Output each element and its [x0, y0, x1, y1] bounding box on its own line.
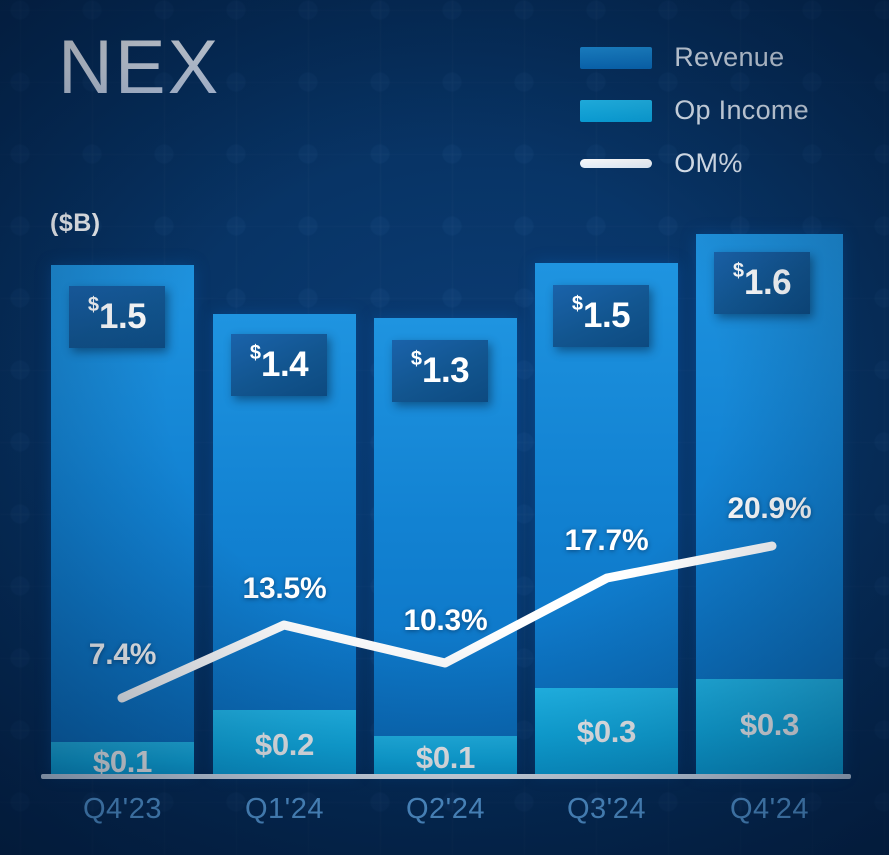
op-income-value-label-q324: $0.3 [535, 714, 678, 750]
legend-label-op-income: Op Income [674, 95, 809, 126]
x-axis-line [41, 774, 851, 779]
legend-item-revenue: Revenue [580, 42, 809, 73]
revenue-number: 1.5 [99, 297, 146, 337]
chart-slide: NEX Revenue Op Income OM% ($B) $1.5 $0.1… [0, 0, 889, 855]
revenue-value-label-q224: $1.3 [392, 340, 488, 402]
x-tick-q324: Q3'24 [535, 793, 678, 826]
currency-symbol: $ [572, 293, 583, 316]
x-tick-q424: Q4'24 [696, 793, 843, 826]
op-income-value-label-q424: $0.3 [696, 707, 843, 743]
op-income-value-label-q224: $0.1 [374, 740, 517, 776]
legend-item-om-percent: OM% [580, 148, 809, 179]
x-tick-q124: Q1'24 [213, 793, 356, 826]
revenue-value-label-q424: $1.6 [714, 252, 810, 314]
x-tick-q423: Q4'23 [51, 793, 194, 826]
currency-symbol: $ [250, 342, 261, 365]
om-percent-label-q424: 20.9% [700, 492, 839, 526]
page-title: NEX [58, 30, 220, 106]
revenue-number: 1.3 [422, 351, 469, 391]
om-percent-label-q124: 13.5% [217, 572, 352, 606]
axis-units-label: ($B) [50, 209, 101, 238]
om-percent-label-q324: 17.7% [539, 524, 674, 558]
revenue-value-label-q324: $1.5 [553, 285, 649, 347]
currency-symbol: $ [411, 348, 422, 371]
legend-item-op-income: Op Income [580, 95, 809, 126]
bar-swatch-icon [580, 100, 652, 122]
chart-legend: Revenue Op Income OM% [580, 42, 809, 179]
op-income-value-label-q124: $0.2 [213, 727, 356, 763]
revenue-number: 1.4 [261, 345, 308, 385]
currency-symbol: $ [88, 294, 99, 317]
revenue-value-label-q423: $1.5 [69, 286, 165, 348]
line-swatch-icon [580, 159, 652, 168]
revenue-value-label-q124: $1.4 [231, 334, 327, 396]
x-tick-q224: Q2'24 [374, 793, 517, 826]
bar-swatch-icon [580, 47, 652, 69]
legend-label-om-percent: OM% [674, 148, 742, 179]
revenue-number: 1.5 [583, 296, 630, 336]
om-percent-label-q224: 10.3% [378, 604, 513, 638]
legend-label-revenue: Revenue [674, 42, 784, 73]
currency-symbol: $ [733, 260, 744, 283]
om-percent-label-q423: 7.4% [55, 638, 190, 672]
revenue-number: 1.6 [744, 263, 791, 303]
